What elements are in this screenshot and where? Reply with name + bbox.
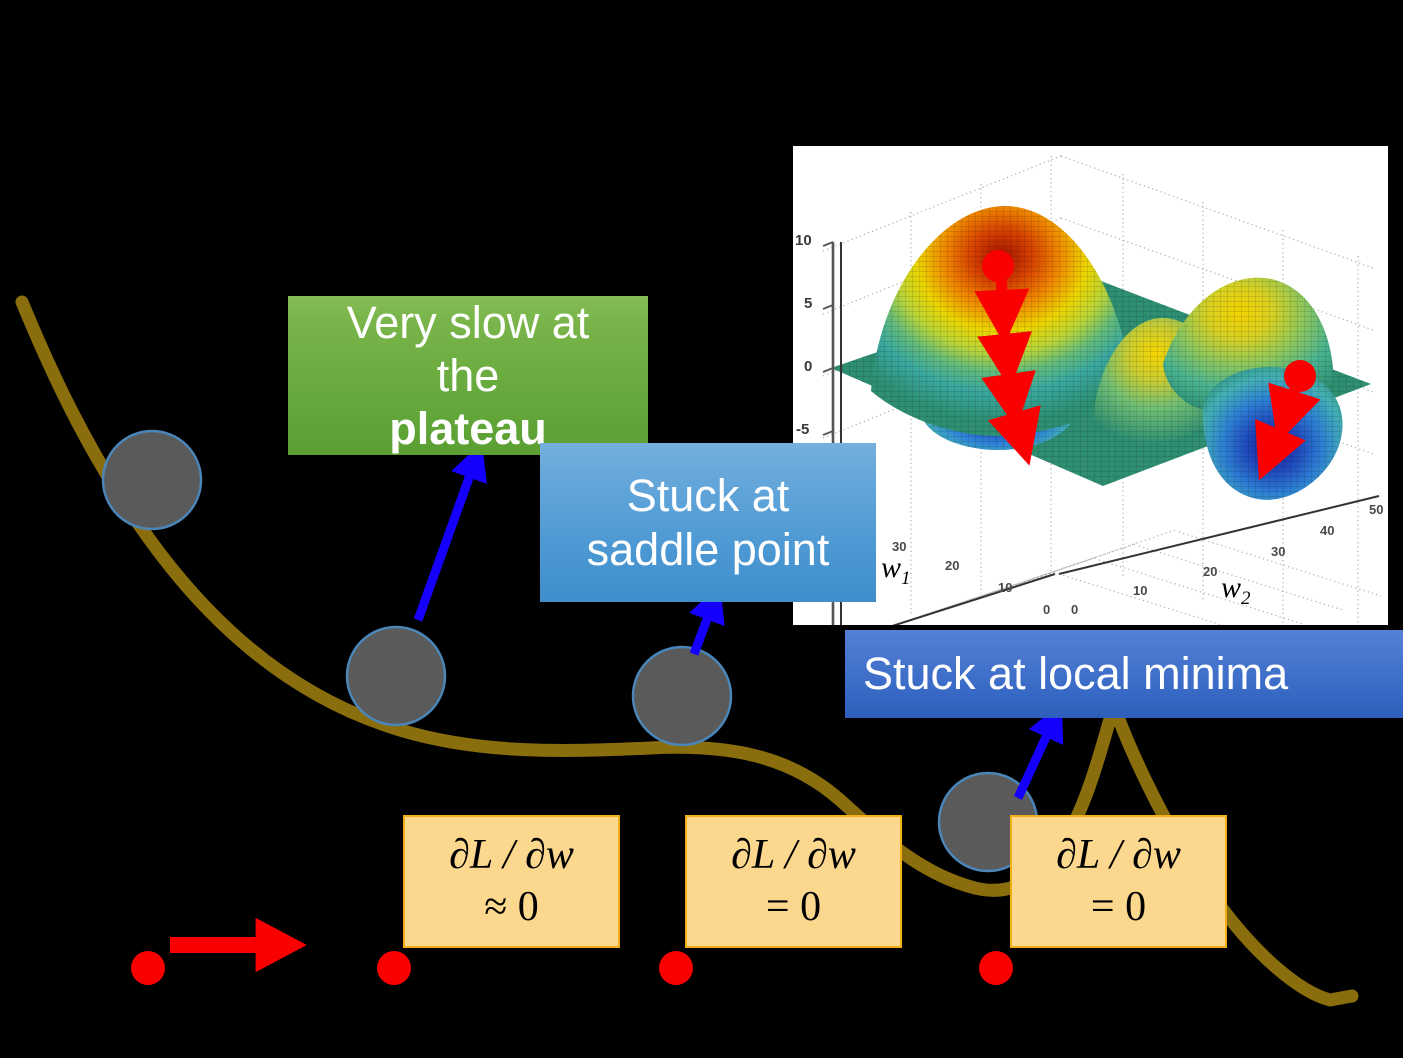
w2-tick-50: 50 (1369, 502, 1383, 517)
callout-very-slow-plateau[interactable]: Very slow at the plateau (288, 296, 648, 455)
callout-saddle-line2: saddle point (587, 523, 830, 576)
derivative-box-plateau[interactable]: ∂L / ∂w ≈ 0 (403, 815, 620, 948)
ball-start (103, 431, 201, 529)
surface-plot-panel: 10 5 0 -5 30 20 10 0 0 10 20 30 40 50 w1… (793, 146, 1388, 625)
w-axis-dot-3 (659, 951, 693, 985)
callout-stuck-local-minima[interactable]: Stuck at local minima (845, 630, 1403, 718)
callout-stuck-saddle-point[interactable]: Stuck at saddle point (540, 443, 876, 602)
derivative-expression: ∂L / ∂w (1056, 830, 1181, 881)
w2-tick-30: 30 (1271, 544, 1285, 559)
w-axis-dot-2 (377, 951, 411, 985)
z-tick-5: 5 (804, 295, 812, 312)
callout-plateau-line2-bold: plateau (389, 402, 547, 455)
w2-axis-letter: w (1221, 571, 1241, 604)
w-axis-dot-1 (131, 951, 165, 985)
z-tick-neg5: -5 (796, 421, 809, 438)
derivative-expression: ∂L / ∂w (449, 830, 574, 881)
ball-saddle (633, 647, 731, 745)
w2-tick-0: 0 (1071, 602, 1078, 617)
w1-axis-sub: 1 (901, 568, 911, 589)
slide-canvas: 10 5 0 -5 30 20 10 0 0 10 20 30 40 50 w1… (0, 0, 1403, 1058)
derivative-value: = 0 (766, 882, 821, 933)
callout-saddle-line1: Stuck at (627, 469, 790, 522)
w1-tick-0: 0 (1043, 602, 1050, 617)
callout-localmin-line1: Stuck at local minima (863, 647, 1288, 700)
derivative-box-saddle[interactable]: ∂L / ∂w = 0 (685, 815, 902, 948)
valley-right (1203, 367, 1343, 500)
w2-tick-20: 20 (1203, 564, 1217, 579)
arrow-to-saddle-callout (694, 606, 712, 654)
w1-axis-label: w1 (881, 551, 911, 590)
peak-main (871, 206, 1133, 436)
w-axis-dot-4 (979, 951, 1013, 985)
z-tick-0: 0 (804, 358, 812, 375)
z-tick-10: 10 (795, 232, 812, 249)
derivative-box-local-min[interactable]: ∂L / ∂w = 0 (1010, 815, 1227, 948)
arrow-to-plateau-callout (418, 464, 474, 620)
w2-axis-sub: 2 (1241, 588, 1251, 609)
w1-axis-letter: w (881, 551, 901, 584)
derivative-value: = 0 (1091, 882, 1146, 933)
w2-tick-40: 40 (1320, 523, 1334, 538)
w2-tick-10: 10 (1133, 583, 1147, 598)
derivative-value: ≈ 0 (484, 882, 539, 933)
ball-plateau (347, 627, 445, 725)
callout-plateau-line1: Very slow at (347, 296, 590, 349)
arrow-to-local-min-callout (1018, 724, 1052, 798)
callout-plateau-line2-plain: the (389, 349, 547, 402)
w1-tick-10: 10 (998, 580, 1012, 595)
derivative-expression: ∂L / ∂w (731, 830, 856, 881)
callout-plateau-line2: the plateau (389, 349, 547, 455)
w2-axis-label: w2 (1221, 571, 1251, 610)
w1-tick-20: 20 (945, 558, 959, 573)
